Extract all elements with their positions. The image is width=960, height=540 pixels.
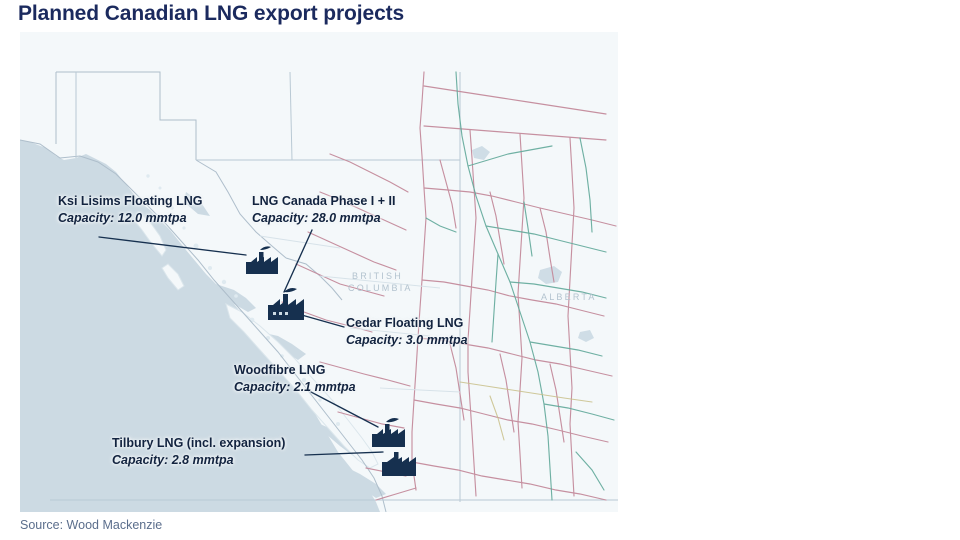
place-label: COLUMBIA [348,283,413,293]
callout-cedar: Cedar Floating LNG Capacity: 3.0 mmtpa [346,315,468,348]
place-label: BRITISH [352,271,403,281]
project-capacity: Capacity: 28.0 mmtpa [252,210,395,226]
project-name: Tilbury LNG (incl. expansion) [112,435,285,451]
source-note: Source: Wood Mackenzie [20,518,162,532]
project-name: Ksi Lisims Floating LNG [58,193,202,209]
map-figure: BRITISH COLUMBIA ALBERTA WASH. [20,32,618,512]
project-name: Cedar Floating LNG [346,315,468,331]
project-capacity: Capacity: 12.0 mmtpa [58,210,202,226]
map-canvas: BRITISH COLUMBIA ALBERTA WASH. [20,32,618,512]
callout-woodfibre: Woodfibre LNG Capacity: 2.1 mmtpa [234,362,356,395]
place-label: ALBERTA [541,292,597,302]
project-capacity: Capacity: 2.8 mmtpa [112,452,285,468]
project-name: Woodfibre LNG [234,362,356,378]
callout-ksi-lisims: Ksi Lisims Floating LNG Capacity: 12.0 m… [58,193,202,226]
project-name: LNG Canada Phase I + II [252,193,395,209]
callout-lng-canada: LNG Canada Phase I + II Capacity: 28.0 m… [252,193,395,226]
project-capacity: Capacity: 2.1 mmtpa [234,379,356,395]
page-title: Planned Canadian LNG export projects [18,2,404,26]
project-capacity: Capacity: 3.0 mmtpa [346,332,468,348]
callout-tilbury: Tilbury LNG (incl. expansion) Capacity: … [112,435,285,468]
